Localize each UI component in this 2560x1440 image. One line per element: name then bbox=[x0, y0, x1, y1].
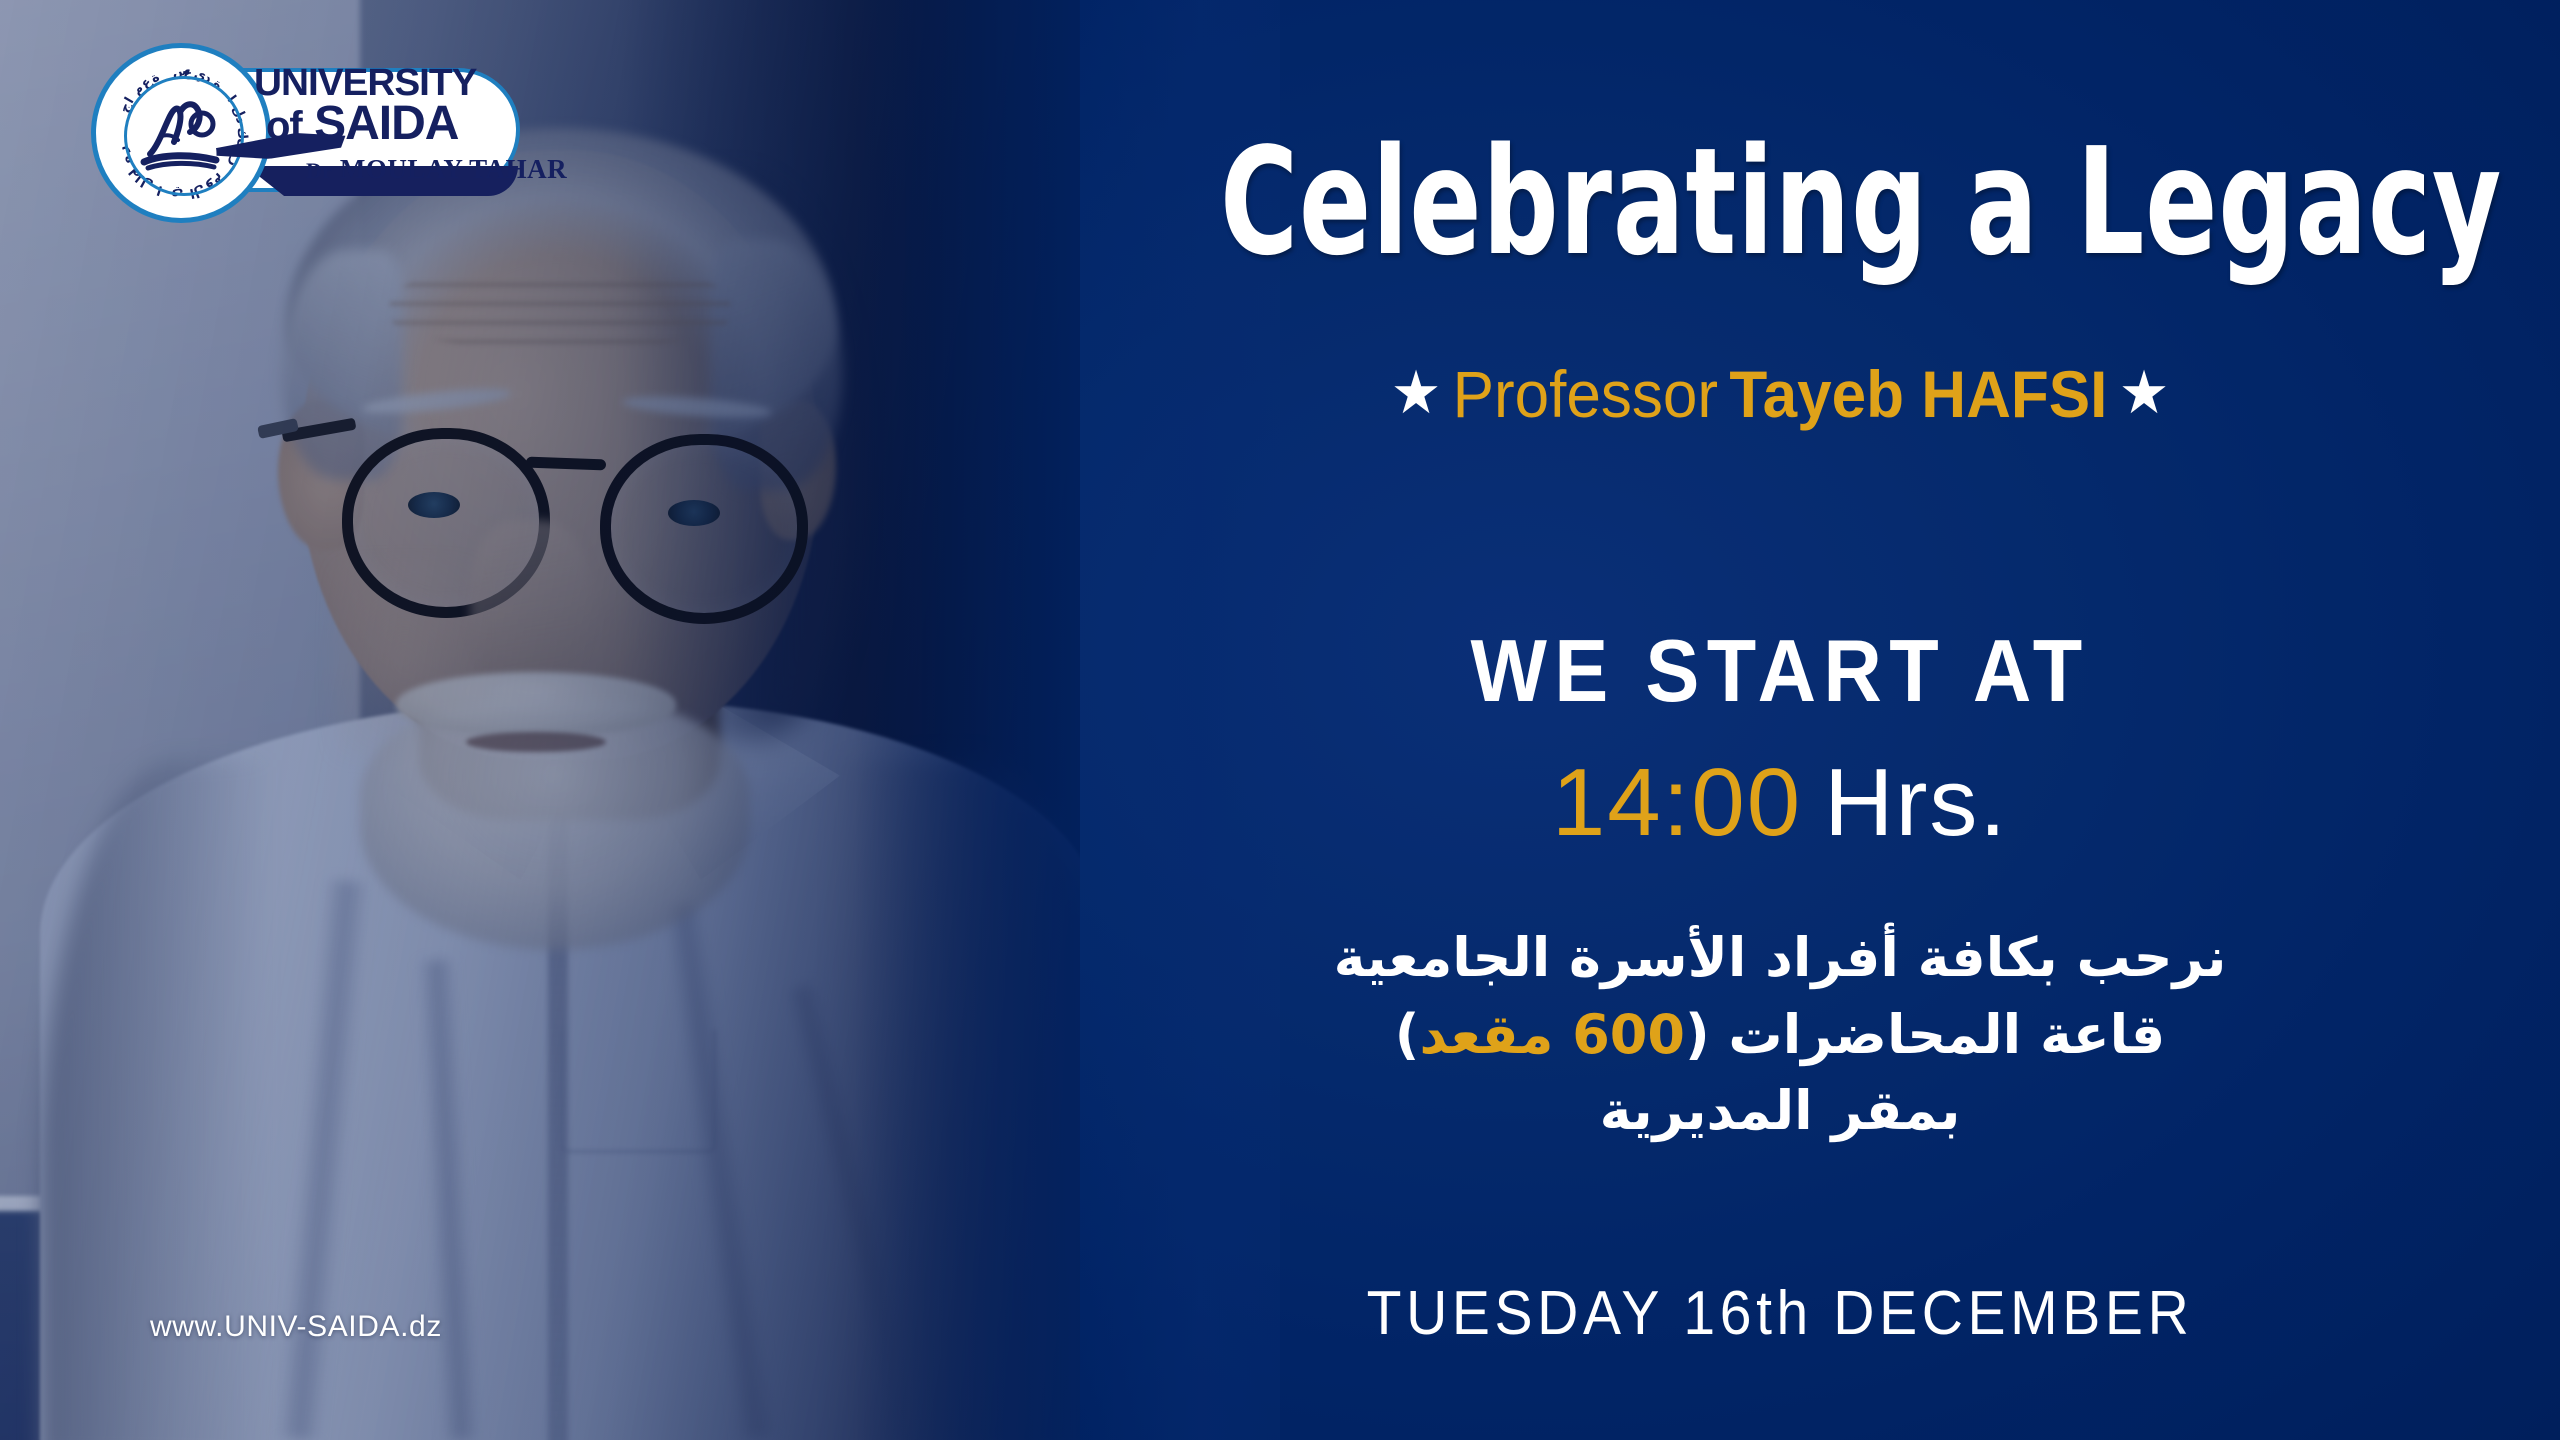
page-title: Celebrating a Legacy bbox=[1220, 128, 2340, 276]
logo-university-name: SAIDA bbox=[314, 97, 458, 150]
speaker-name: Tayeb HAFSI bbox=[1729, 357, 2107, 431]
logo-calligraphy-icon bbox=[124, 76, 238, 190]
start-time-value: 14:00 bbox=[1552, 749, 1802, 856]
subtitle-line: ★ProfessorTayeb HAFSI★ bbox=[1122, 358, 2438, 431]
start-time-unit: Hrs. bbox=[1824, 749, 2008, 856]
university-logo: جامعة سعيدة الدكتور مولاي الطاهر UNIVERS… bbox=[96, 48, 516, 218]
arabic-invitation-block: نرحب بكافة أفراد الأسرة الجامعية قاعة ال… bbox=[1080, 920, 2480, 1150]
arabic-seat-count: 600 مقعد bbox=[1419, 1003, 1685, 1066]
logo-doctor-name: MOULAY TAHAR bbox=[340, 154, 567, 184]
arabic-venue-prefix: قاعة المحاضرات ( bbox=[1685, 1003, 2165, 1066]
logo-of-word: of bbox=[266, 104, 302, 148]
logo-doctor-line: Dr MOULAY TAHAR bbox=[306, 154, 567, 185]
arabic-venue-line: قاعة المحاضرات (600 مقعد) bbox=[1080, 997, 2480, 1074]
start-time-label: WE START AT bbox=[1136, 620, 2424, 722]
poster-content: Celebrating a Legacy ★ProfessorTayeb HAF… bbox=[1080, 0, 2560, 1440]
logo-saida-line: of SAIDA bbox=[266, 102, 458, 145]
logo-doctor-prefix: Dr bbox=[306, 158, 333, 183]
honorific-label: Professor bbox=[1453, 357, 1718, 431]
start-time-row: 14:00Hrs. bbox=[1080, 748, 2480, 858]
event-date: TUESDAY 16th DECEMBER bbox=[1136, 1278, 2424, 1349]
website-url: www.UNIV-SAIDA.dz bbox=[150, 1310, 442, 1344]
star-right-icon: ★ bbox=[2119, 359, 2170, 426]
arabic-venue-suffix: ) bbox=[1395, 1003, 1420, 1066]
star-left-icon: ★ bbox=[1391, 359, 1442, 426]
arabic-location-line: بمقر المديرية bbox=[1080, 1073, 2480, 1150]
arabic-welcome-line: نرحب بكافة أفراد الأسرة الجامعية bbox=[1080, 920, 2480, 997]
event-poster: Celebrating a Legacy ★ProfessorTayeb HAF… bbox=[0, 0, 2560, 1440]
logo-university-word: UNIVERSITY bbox=[254, 66, 476, 101]
